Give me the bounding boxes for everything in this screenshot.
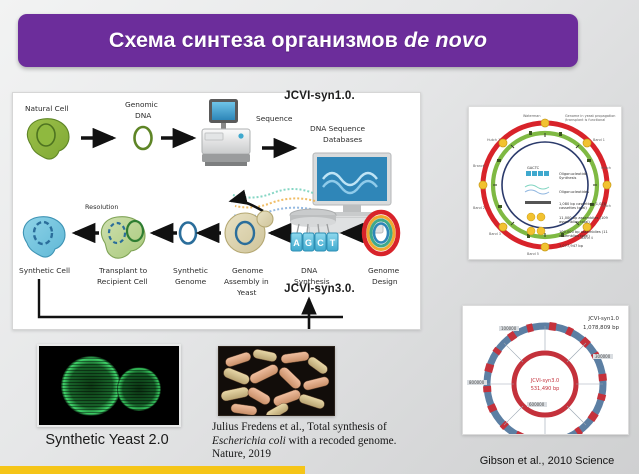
label-genomic-dna-2: DNA (135, 111, 151, 120)
svg-text:A: A (293, 238, 300, 248)
label-assembly-1: Genome (232, 266, 264, 275)
ecoli-citation-line3: Nature, 2019 (212, 448, 271, 460)
svg-text:Branch: Branch (473, 164, 485, 168)
svg-text:Synthesis: Synthesis (559, 176, 576, 180)
svg-text:Hutch: Hutch (601, 166, 611, 170)
jcvi-syn3-title: JCVI-syn3.0. (0, 283, 639, 295)
gibson-citation: Gibson et al., 2010 Science (455, 455, 639, 467)
synthetic-cell-figure (23, 217, 65, 257)
label-natural-cell: Natural Cell (25, 104, 68, 113)
label-transplant-1: Transplant to (98, 266, 148, 275)
svg-text:300000: 300000 (595, 354, 611, 359)
ecoli-bacteria-image (219, 347, 334, 415)
svg-text:T: T (330, 238, 336, 248)
natural-cell-figure (27, 119, 69, 159)
svg-text:Band 2: Band 2 (473, 206, 485, 210)
svg-text:Waterman: Waterman (523, 114, 541, 118)
slide-title-banner: Схема синтеза организмов de novo (18, 14, 578, 67)
svg-text:C: C (317, 238, 324, 248)
svg-text:Band 5: Band 5 (527, 252, 539, 256)
jcvi-syn1-title: JCVI-syn1.0. (0, 90, 639, 102)
title-italic-text: de novo (404, 28, 487, 52)
jcvi-syn3-map-svg: JCVI-syn3.0 531,490 bp JCVI-syn1.0 1,078… (463, 306, 628, 434)
svg-text:Oligonucleotides: Oligonucleotides (559, 190, 589, 194)
synthetic-yeast-caption: Synthetic Yeast 2.0 (12, 432, 202, 448)
svg-text:Hutch 1: Hutch 1 (487, 138, 500, 142)
label-dna-synthesis-1: DNA (301, 266, 317, 275)
presentation-slide: Схема синтеза организмов de novo (0, 0, 639, 474)
bottom-accent-bar (0, 466, 305, 474)
jcvi-syn1-outer-size: 1,078,809 bp (583, 325, 620, 331)
ecoli-citation: Julius Fredens et al., Total synthesis o… (212, 421, 427, 462)
svg-text:Band 1: Band 1 (593, 138, 605, 142)
svg-text:1,077,947 bp: 1,077,947 bp (559, 244, 584, 248)
label-databases-2: Databases (323, 135, 362, 144)
svg-text:cassettes total): cassettes total) (559, 206, 587, 210)
label-synthetic-cell: Synthetic Cell (19, 266, 70, 275)
jcvi-syn1-outer-name: JCVI-syn1.0 (587, 316, 619, 322)
label-sequence: Sequence (256, 114, 293, 123)
genome-assembly-yeast-figure (225, 211, 273, 253)
ecoli-sem-photo (218, 346, 335, 416)
title-main-text: Схема синтеза организмов (109, 28, 404, 52)
svg-text:assemblies total): assemblies total) (559, 234, 590, 238)
label-synthetic-genome-1: Synthetic (173, 266, 208, 275)
page-title: Схема синтеза организмов de novo (109, 28, 487, 53)
ecoli-citation-species: Escherichia coli (212, 435, 286, 447)
genomic-dna-figure (135, 127, 152, 149)
jcvi-syn1-genome-map: WatermanGenome in yeast propagation /tra… (468, 106, 622, 260)
nucleotide-bottle-A: A (291, 233, 302, 251)
yeast-fluorescence-image (39, 346, 179, 425)
synthetic-genome-figure (180, 223, 196, 244)
svg-text:G: G (305, 238, 312, 248)
nucleotide-bottle-G: G (303, 233, 314, 251)
label-genome-design-1: Genome (368, 266, 400, 275)
label-resolution: Resolution (85, 203, 118, 211)
jcvi-syn3-inner-size: 531,490 bp (531, 386, 560, 392)
svg-text:100000: 100000 (501, 326, 517, 331)
transplant-cell-figure (101, 217, 145, 258)
svg-text:800000: 800000 (469, 380, 485, 385)
label-databases-1: DNA Sequence (310, 124, 366, 133)
dna-sequencer-figure (202, 99, 250, 166)
svg-text:600000: 600000 (529, 402, 545, 407)
svg-text:Band 3: Band 3 (489, 232, 501, 236)
jcvi-syn3-inner-name: JCVI-syn3.0 (530, 378, 559, 384)
nucleotide-bottle-C: C (315, 233, 326, 251)
jcvi-syn1-map-svg: WatermanGenome in yeast propagation /tra… (469, 107, 621, 259)
nucleotide-bottle-T: T (327, 233, 338, 251)
jcvi-syn3-genome-map: JCVI-syn3.0 531,490 bp JCVI-syn1.0 1,078… (462, 305, 629, 435)
ecoli-citation-line1: Julius Fredens et al., Total synthesis o… (212, 421, 387, 433)
ecoli-citation-line2b: with a recoded genome. (286, 435, 397, 447)
synthetic-yeast-photo (37, 344, 181, 427)
svg-text:assemblies total): assemblies total) (559, 220, 590, 224)
svg-text:GACTC: GACTC (527, 166, 540, 170)
svg-text:/transplant is functional: /transplant is functional (565, 118, 605, 122)
